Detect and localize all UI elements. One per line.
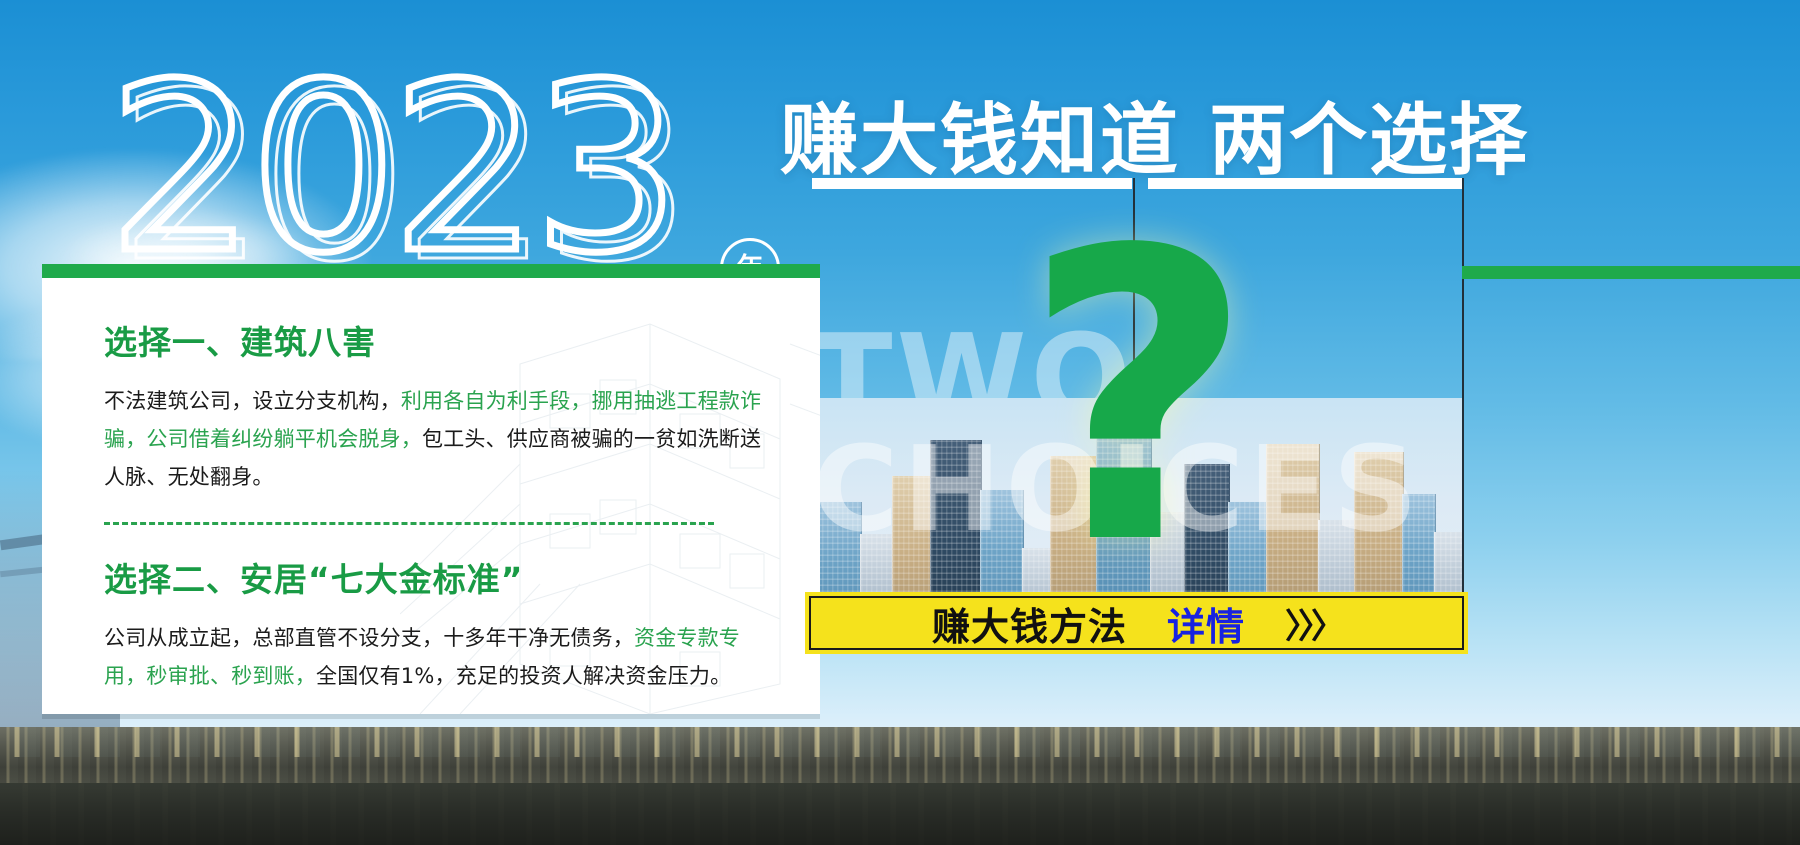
card-shadow — [42, 714, 820, 719]
promo-banner: 2023 2023 年 赚大钱知道 两个选择 TWO CHOICES CHOIC… — [0, 0, 1800, 845]
card-content: 选择一、建筑八害 不法建筑公司，设立分支机构，利用各自为利手段，挪用抽逃工程款诈… — [104, 316, 770, 695]
card-accent-bar — [42, 264, 820, 278]
cta-bar[interactable]: 赚大钱方法 详情 〉〉〉 — [805, 592, 1468, 654]
cta-details-link[interactable]: 详情 — [1167, 596, 1245, 651]
section-2-run-3: 全国仅有1%，充足的投资人解决资金压力。 — [316, 664, 731, 688]
water-reflection — [0, 783, 1800, 845]
green-accent-bar-far-right — [1700, 266, 1800, 279]
cta-main-label: 赚大钱方法 — [932, 596, 1127, 651]
section-1-run-1: 不法建筑公司，设立分支机构， — [104, 389, 401, 413]
section-2-title: 选择二、安居“七大金标准” — [104, 553, 770, 601]
section-1-title: 选择一、建筑八害 — [104, 316, 770, 364]
bottom-window-lights-bright — [0, 727, 1800, 757]
info-card: 选择一、建筑八害 不法建筑公司，设立分支机构，利用各自为利手段，挪用抽逃工程款诈… — [42, 264, 820, 714]
year-number-ghost: 2023 — [119, 71, 685, 286]
section-divider — [104, 522, 714, 525]
section-1-paragraph: 不法建筑公司，设立分支机构，利用各自为利手段，挪用抽逃工程款诈骗，公司借着纠纷躺… — [104, 382, 770, 496]
chevron-right-icon: 〉〉〉 — [1285, 599, 1341, 648]
question-mark-icon: ? — [1022, 200, 1254, 600]
section-2-paragraph: 公司从成立起，总部直管不设分支，十多年干净无债务，资金专款专用，秒审批、秒到账，… — [104, 619, 770, 695]
cta-inner-frame: 赚大钱方法 详情 〉〉〉 — [809, 596, 1464, 650]
frame-line-right — [1462, 178, 1464, 648]
year-graphic: 2023 2023 年 — [108, 62, 728, 277]
section-2-run-1: 公司从成立起，总部直管不设分支，十多年干净无债务， — [104, 626, 634, 650]
